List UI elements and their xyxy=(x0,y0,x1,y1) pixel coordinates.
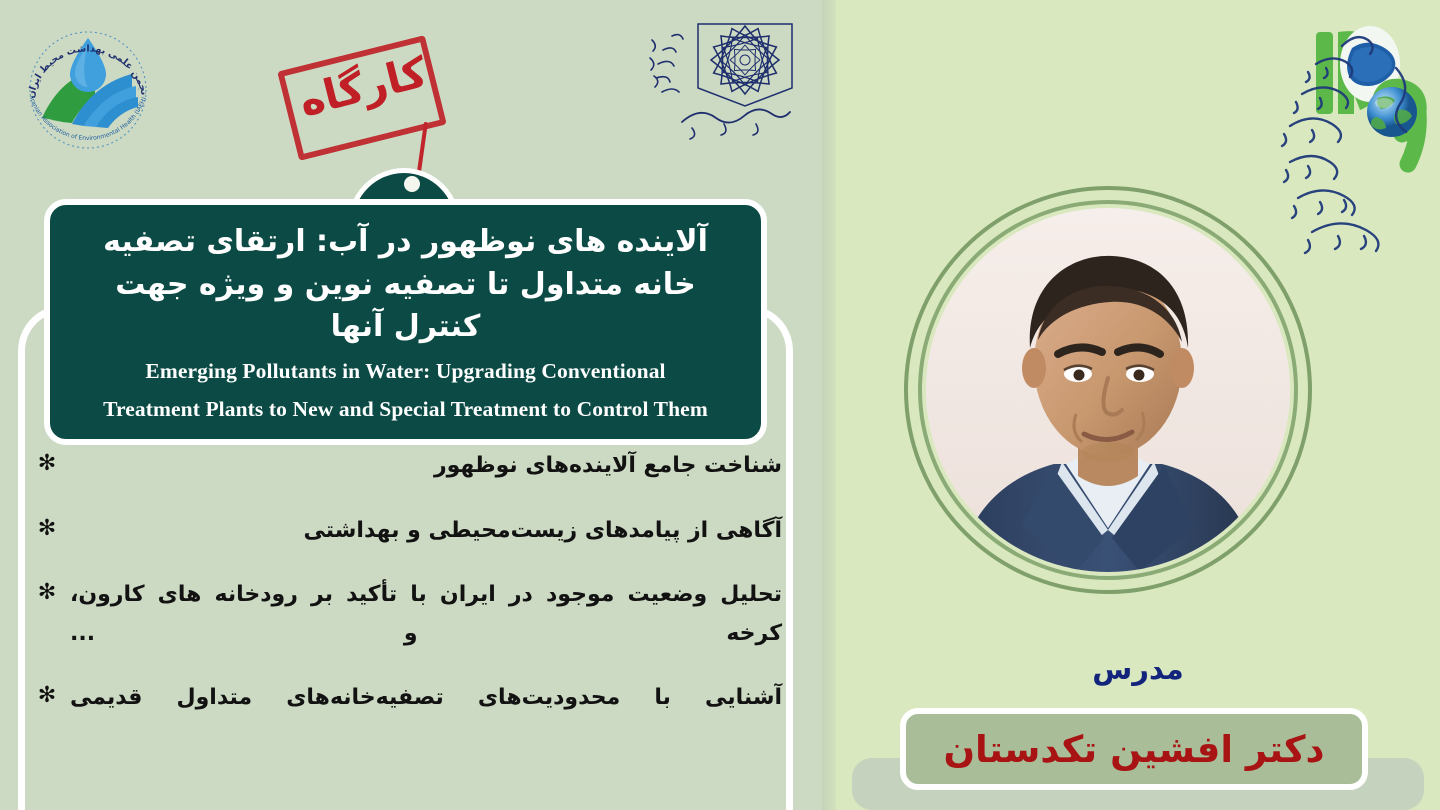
instructor-name-box: دکتر افشین تکدستان xyxy=(900,708,1368,790)
asterisk-icon: ✻ xyxy=(30,576,64,608)
objective-text: آگاهی از پیامدهای زیست‌محیطی و بهداشتی xyxy=(64,512,782,551)
association-logo: انجمن علمی بهداشت محیط ایران Iranian Ass… xyxy=(14,14,162,162)
objective-text: آشنایی با محدودیت‌های تصفیه‌خانه‌های متد… xyxy=(64,679,782,718)
instructor-name: دکتر افشین تکدستان xyxy=(943,731,1324,768)
list-item: آگاهی از پیامدهای زیست‌محیطی و بهداشتی ✻ xyxy=(30,512,782,551)
objectives-list: شناخت جامع آلاینده‌های نوظهور ✻ آگاهی از… xyxy=(30,447,782,744)
list-item: تحلیل وضعیت موجود در ایران با تأکید بر ر… xyxy=(30,576,782,653)
avatar xyxy=(926,208,1290,572)
asterisk-icon: ✻ xyxy=(30,512,64,544)
asterisk-icon: ✻ xyxy=(30,679,64,711)
list-item: شناخت جامع آلاینده‌های نوظهور ✻ xyxy=(30,447,782,486)
list-item: آشنایی با محدودیت‌های تصفیه‌خانه‌های متد… xyxy=(30,679,782,718)
objective-text: شناخت جامع آلاینده‌های نوظهور xyxy=(64,447,782,486)
panel-divider xyxy=(822,0,836,810)
university-logo xyxy=(632,2,807,157)
workshop-stamp: کارگاه xyxy=(282,44,452,169)
instructor-label: مدرس xyxy=(836,652,1440,686)
title-english-line-1: Emerging Pollutants in Water: Upgrading … xyxy=(72,356,739,387)
tag-hole xyxy=(404,176,420,192)
title-persian: آلاینده های نوظهور در آب: ارتقای تصفیه خ… xyxy=(72,221,739,349)
objective-text: تحلیل وضعیت موجود در ایران با تأکید بر ر… xyxy=(64,576,782,653)
title-english-line-2: Treatment Plants to New and Special Trea… xyxy=(72,394,739,425)
title-card: آلاینده های نوظهور در آب: ارتقای تصفیه خ… xyxy=(44,199,767,445)
conference-calligraphy xyxy=(1246,10,1440,280)
asterisk-icon: ✻ xyxy=(30,447,64,479)
poster-canvas: انجمن علمی بهداشت محیط ایران Iranian Ass… xyxy=(0,0,1440,810)
